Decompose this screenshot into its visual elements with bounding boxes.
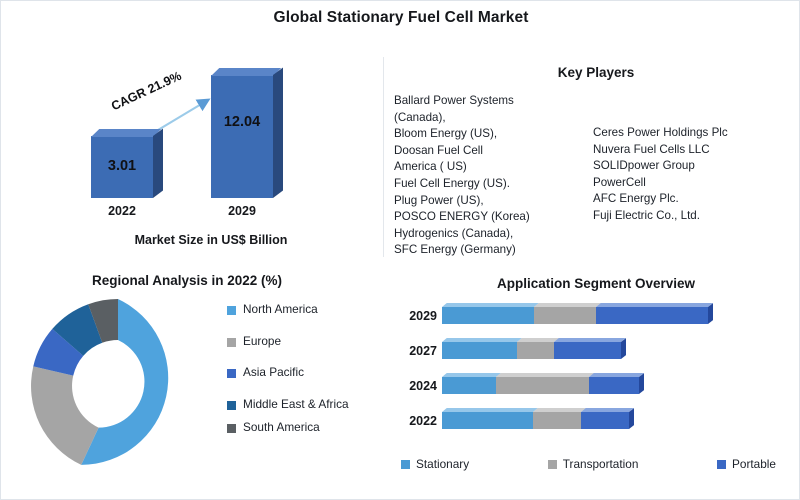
- segment-top-face: [596, 303, 713, 307]
- regional-legend: North America Europe Asia Pacific Middle…: [227, 302, 377, 452]
- bar-value-2022: 3.01: [91, 158, 153, 174]
- legend-label: North America: [243, 302, 318, 318]
- segment-portable[interactable]: [554, 342, 621, 359]
- legend-item-portable[interactable]: Portable: [717, 457, 776, 471]
- segment-stationary[interactable]: [442, 342, 517, 359]
- legend-item-north-america[interactable]: North America: [227, 302, 377, 318]
- bar-front-face: [211, 75, 273, 198]
- segment-top-face: [554, 338, 626, 342]
- segment-top-face: [496, 373, 594, 377]
- segment-portable[interactable]: [581, 412, 629, 429]
- market-size-chart: CAGR 21.9% 3.01 2022 12.04 2029 Market S…: [61, 73, 361, 258]
- legend-item-stationary[interactable]: Stationary: [401, 457, 469, 471]
- market-size-axis-title: Market Size in US$ Billion: [61, 233, 361, 247]
- table-row: 2027: [389, 340, 789, 362]
- app-ylabel-2029: 2029: [389, 309, 437, 323]
- key-players-right-column: Ceres Power Holdings Plc Nuvera Fuel Cel…: [593, 125, 798, 225]
- segment-side-face: [629, 408, 634, 429]
- legend-swatch-icon: [227, 306, 236, 315]
- legend-label: Europe: [243, 334, 281, 350]
- legend-swatch-icon: [227, 338, 236, 347]
- app-ylabel-2024: 2024: [389, 379, 437, 393]
- segment-top-face: [517, 338, 559, 342]
- infographic-canvas: Global Stationary Fuel Cell Market CAGR …: [0, 0, 800, 500]
- regional-analysis-title: Regional Analysis in 2022 (%): [17, 273, 357, 288]
- segment-top-face: [533, 408, 586, 412]
- application-segment-title: Application Segment Overview: [401, 276, 791, 291]
- legend-item-asia-pacific[interactable]: Asia Pacific: [227, 365, 377, 381]
- legend-swatch-icon: [227, 401, 236, 410]
- segment-stationary[interactable]: [442, 307, 534, 324]
- segment-side-face: [621, 338, 626, 359]
- table-row: 2024: [389, 375, 789, 397]
- legend-swatch-icon: [401, 460, 410, 469]
- legend-label: Stationary: [416, 457, 469, 471]
- legend-item-south-america[interactable]: South America: [227, 420, 377, 436]
- legend-item-europe[interactable]: Europe: [227, 334, 377, 350]
- segment-side-face: [639, 373, 644, 394]
- bar-xlabel-2029: 2029: [197, 204, 287, 218]
- bar-top-face: [211, 68, 281, 76]
- key-players-title: Key Players: [401, 65, 791, 80]
- legend-item-middle-east-africa[interactable]: Middle East & Africa: [227, 397, 377, 413]
- legend-item-transportation[interactable]: Transportation: [548, 457, 639, 471]
- legend-swatch-icon: [227, 424, 236, 433]
- stacked-bar-2022: [442, 412, 629, 429]
- legend-swatch-icon: [548, 460, 557, 469]
- table-row: 2022: [389, 410, 789, 432]
- legend-label: Middle East & Africa: [243, 397, 349, 413]
- legend-label: South America: [243, 420, 320, 436]
- bar-2022: 3.01: [91, 136, 153, 198]
- stacked-bar-2027: [442, 342, 621, 359]
- page-title: Global Stationary Fuel Cell Market: [1, 9, 800, 27]
- app-ylabel-2027: 2027: [389, 344, 437, 358]
- segment-top-face: [589, 373, 644, 377]
- stacked-bar-2024: [442, 377, 639, 394]
- segment-transportation[interactable]: [517, 342, 554, 359]
- bar-value-2029: 12.04: [211, 114, 273, 130]
- segment-portable[interactable]: [596, 307, 708, 324]
- bar-side-face: [153, 128, 163, 198]
- segment-top-face: [581, 408, 634, 412]
- segment-top-face: [442, 338, 522, 342]
- segment-portable[interactable]: [589, 377, 639, 394]
- bar-2029: 12.04: [211, 75, 273, 198]
- bar-side-face: [273, 67, 283, 198]
- segment-transportation[interactable]: [496, 377, 589, 394]
- segment-top-face: [442, 373, 501, 377]
- bar-xlabel-2022: 2022: [77, 204, 167, 218]
- segment-top-face: [442, 303, 539, 307]
- segment-top-face: [534, 303, 601, 307]
- legend-swatch-icon: [227, 369, 236, 378]
- legend-swatch-icon: [717, 460, 726, 469]
- vertical-divider: [383, 57, 384, 257]
- legend-label: Asia Pacific: [243, 365, 304, 381]
- application-segment-chart: 2029 2027: [389, 301, 789, 441]
- application-legend: Stationary Transportation Portable: [401, 457, 776, 471]
- regional-donut-chart: [15, 297, 221, 475]
- legend-label: Transportation: [563, 457, 639, 471]
- app-ylabel-2022: 2022: [389, 414, 437, 428]
- segment-transportation[interactable]: [534, 307, 596, 324]
- segment-side-face: [708, 303, 713, 324]
- table-row: 2029: [389, 305, 789, 327]
- stacked-bar-2029: [442, 307, 708, 324]
- segment-transportation[interactable]: [533, 412, 581, 429]
- segment-stationary[interactable]: [442, 377, 496, 394]
- cagr-annotation: CAGR 21.9%: [109, 69, 184, 114]
- segment-stationary[interactable]: [442, 412, 533, 429]
- legend-label: Portable: [732, 457, 776, 471]
- bar-top-face: [91, 129, 161, 137]
- key-players-left-column: Ballard Power Systems (Canada), Bloom En…: [394, 93, 594, 259]
- segment-top-face: [442, 408, 538, 412]
